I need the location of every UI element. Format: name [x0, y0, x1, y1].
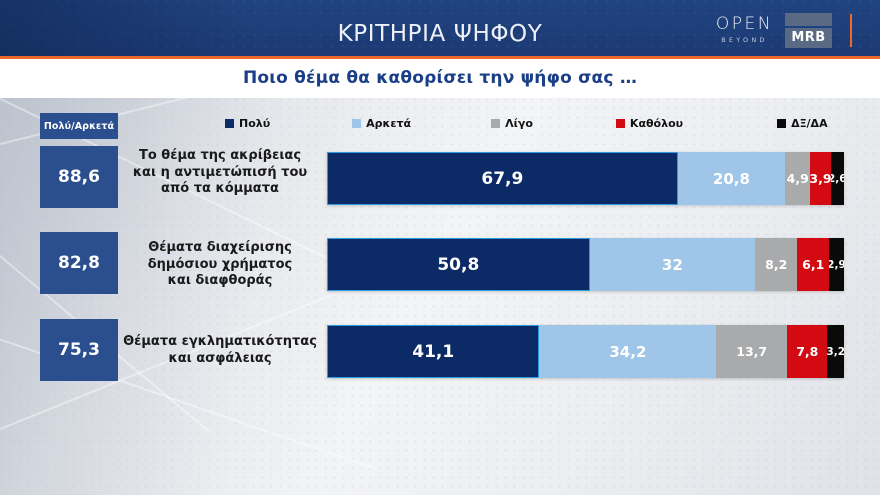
legend-label: Πολύ [239, 117, 270, 130]
mrb-logo-body: MRB [785, 28, 832, 48]
legend-item-3: Καθόλου [616, 117, 683, 130]
row-label-line: Θέματα εγκληματικότητας [122, 334, 318, 351]
mrb-logo: MRB [785, 13, 832, 48]
row-label-2: Θέματα εγκληματικότηταςκαι ασφάλειας [122, 334, 318, 367]
row-label-1: Θέματα διαχείρισηςδημόσιου χρήματοςκαι δ… [122, 240, 318, 290]
legend: ΠολύΑρκετάΛίγοΚαθόλουΔΞ/ΔΑ [225, 117, 828, 130]
mrb-logo-text: MRB [791, 30, 825, 45]
row-label-line: Το θέμα της ακρίβειας [122, 148, 318, 165]
subtitle: Ποιο θέμα θα καθορίσει την ψήφο σας … [0, 68, 880, 88]
bar-segment--: 41,1 [327, 325, 539, 378]
legend-swatch-icon [352, 119, 361, 128]
row-label-line: από τα κόμματα [122, 181, 318, 198]
legend-swatch-icon [616, 119, 625, 128]
legend-label: Αρκετά [366, 117, 411, 130]
bar-segment--: 13,7 [716, 325, 787, 378]
bar-segment--: 67,9 [327, 152, 678, 205]
bar-segment--: 2,6 [831, 152, 844, 205]
bar-row-2: 41,134,213,77,83,2 [327, 325, 844, 378]
legend-swatch-icon [225, 119, 234, 128]
open-logo-text: OPEN [716, 16, 773, 33]
open-beyond-logo: OPEN BEYOND [716, 16, 773, 44]
row-label-line: και διαφθοράς [122, 273, 318, 290]
logo-group: OPEN BEYOND MRB [716, 12, 852, 48]
mrb-logo-topbar [785, 13, 832, 28]
row-label-line: και η αντιμετώπισή του [122, 165, 318, 182]
bar-segment--: 7,8 [787, 325, 827, 378]
summary-value-box-2: 75,3 [40, 319, 118, 381]
legend-swatch-icon [777, 119, 786, 128]
row-label-line: Θέματα διαχείρισης [122, 240, 318, 257]
summary-value-box-0: 88,6 [40, 146, 118, 208]
legend-item-1: Αρκετά [352, 117, 411, 130]
row-label-line: δημόσιου χρήματος [122, 257, 318, 274]
bar-segment--: 20,8 [678, 152, 785, 205]
open-logo-subtext: BEYOND [721, 37, 767, 44]
bar-segment--: 50,8 [327, 238, 590, 291]
legend-label: ΔΞ/ΔΑ [791, 117, 828, 130]
bar-segment--: 3,2 [827, 325, 844, 378]
bar-segment--: 32 [590, 238, 755, 291]
summary-value-box-1: 82,8 [40, 232, 118, 294]
bar-segment--: 2,9 [829, 238, 844, 291]
header-bar: ΚΡΙΤΗΡΙΑ ΨΗΦΟΥ OPEN BEYOND MRB [0, 0, 880, 57]
bar-segment--: 3,9 [810, 152, 830, 205]
bar-segment--: 4,9 [785, 152, 810, 205]
bar-segment--: 6,1 [797, 238, 829, 291]
legend-item-2: Λίγο [491, 117, 533, 130]
bar-segment--: 8,2 [755, 238, 797, 291]
row-label-0: Το θέμα της ακρίβειαςκαι η αντιμετώπισή … [122, 148, 318, 198]
legend-swatch-icon [491, 119, 500, 128]
bar-row-0: 67,920,84,93,92,6 [327, 152, 844, 205]
bar-row-1: 50,8328,26,12,9 [327, 238, 844, 291]
legend-item-4: ΔΞ/ΔΑ [777, 117, 828, 130]
legend-label: Λίγο [505, 117, 533, 130]
logo-divider [850, 14, 852, 47]
bar-segment--: 34,2 [539, 325, 716, 378]
slide-root: ΚΡΙΤΗΡΙΑ ΨΗΦΟΥ OPEN BEYOND MRB Ποιο θέμα… [0, 0, 880, 495]
row-label-line: και ασφάλειας [122, 351, 318, 368]
summary-column-header: Πολύ/Αρκετά [40, 113, 118, 139]
legend-item-0: Πολύ [225, 117, 270, 130]
legend-label: Καθόλου [630, 117, 683, 130]
